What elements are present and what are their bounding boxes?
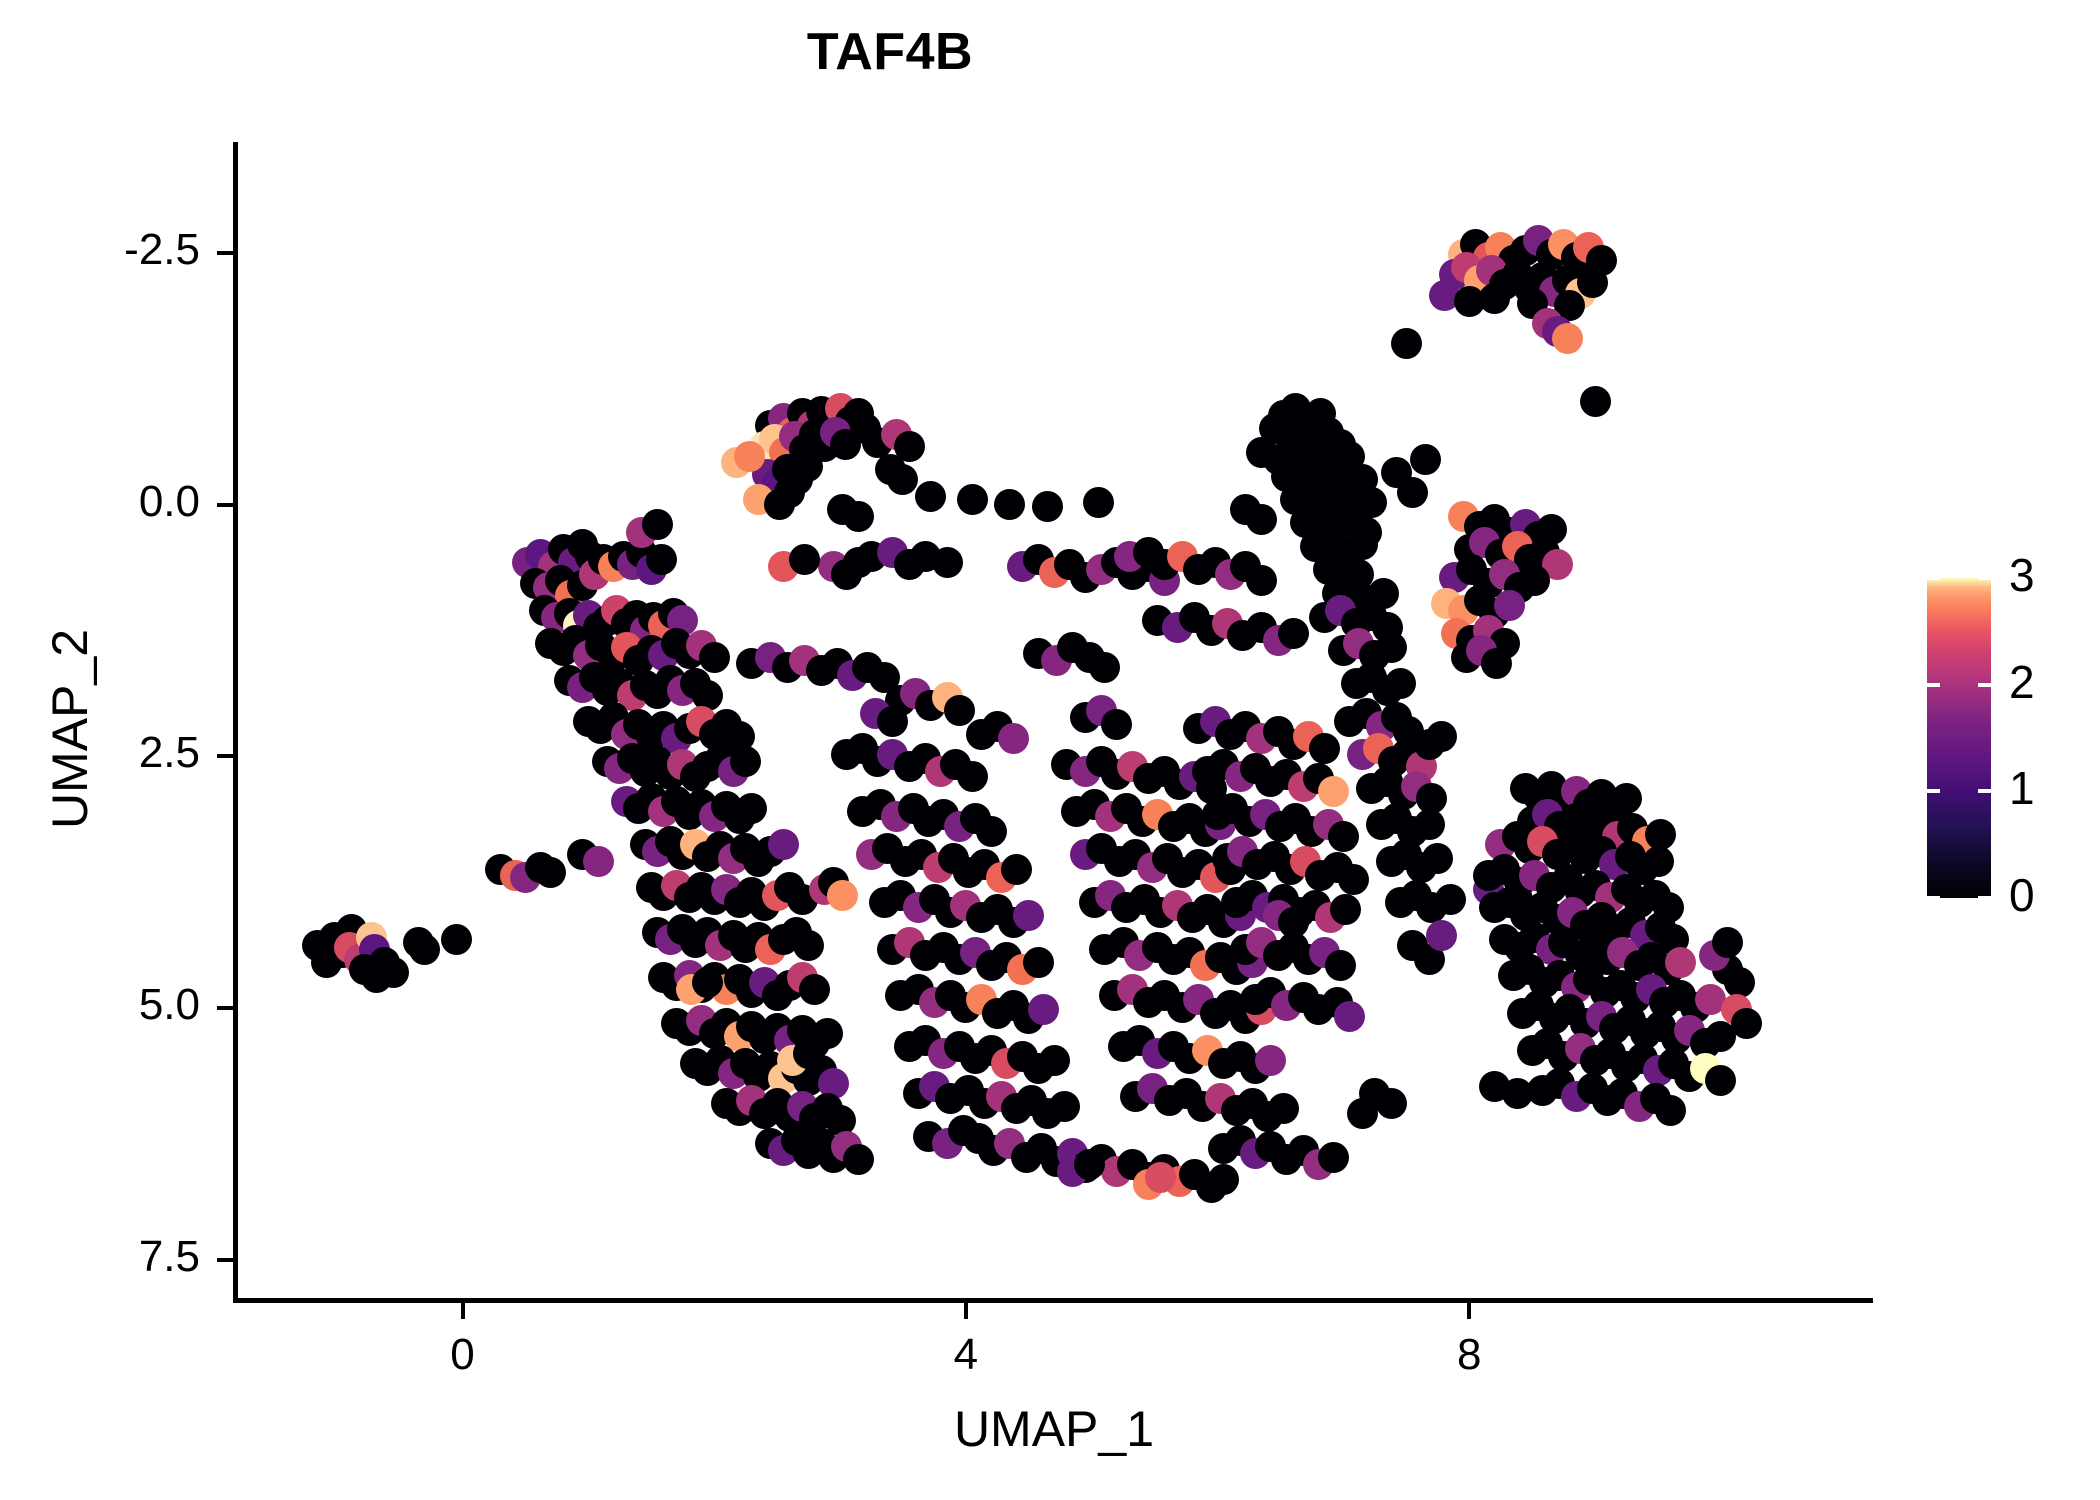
scatter-point [1255, 1045, 1286, 1076]
scatter-point [915, 481, 946, 512]
chart-title: TAF4B [0, 22, 1780, 82]
scatter-point [1397, 477, 1428, 508]
scatter-point [1089, 652, 1120, 683]
scatter-point [1328, 821, 1359, 852]
colorbar-tick-mark [1927, 683, 1940, 687]
scatter-point [843, 501, 874, 532]
scatter-point [1325, 950, 1356, 981]
scatter-point [1426, 721, 1457, 752]
colorbar-tick-mark [1927, 789, 1940, 793]
plot-area [236, 142, 1872, 1300]
scatter-point [1083, 487, 1114, 518]
x-tick-mark [964, 1303, 968, 1319]
scatter-point [1385, 668, 1416, 699]
scatter-point [1643, 846, 1674, 877]
scatter-point [774, 477, 805, 508]
scatter-point [793, 1038, 824, 1069]
scatter-point [1435, 884, 1466, 915]
scatter-point [1376, 1088, 1407, 1119]
scatter-point [1494, 590, 1525, 621]
scatter-point [1309, 733, 1340, 764]
scatter-point [1145, 1162, 1176, 1193]
scatter-point [1208, 1164, 1239, 1195]
scatter-point [1318, 1142, 1349, 1173]
scatter-point [932, 547, 963, 578]
scatter-point [793, 930, 824, 961]
scatter-point [1519, 565, 1550, 596]
scatter-point [792, 451, 823, 482]
scatter-point [1611, 783, 1642, 814]
scatter-point [1001, 854, 1032, 885]
scatter-point [1580, 386, 1611, 417]
colorbar-tick-label: 0 [2009, 868, 2079, 922]
scatter-point [699, 642, 730, 673]
scatter-point [1410, 444, 1441, 475]
scatter-point [1577, 267, 1608, 298]
scatter-point [1023, 947, 1054, 978]
scatter-point [1013, 900, 1044, 931]
scatter-point [1334, 1001, 1365, 1032]
scatter-point [535, 857, 566, 888]
scatter-point [1028, 994, 1059, 1025]
x-tick-mark [1467, 1303, 1471, 1319]
scatter-point [789, 544, 820, 575]
x-tick-label: 0 [383, 1330, 543, 1380]
scatter-point [730, 746, 761, 777]
y-tick-mark [217, 1006, 233, 1010]
colorbar-tick-mark [1927, 896, 1940, 900]
colorbar-tick-label: 2 [2009, 655, 2079, 709]
scatter-point [1705, 1065, 1736, 1096]
scatter-point [957, 761, 988, 792]
scatter-point [583, 846, 614, 877]
y-axis-title: UMAP_2 [41, 149, 99, 1309]
scatter-point [1502, 1078, 1533, 1109]
y-axis-line [233, 142, 238, 1302]
colorbar-tick-mark [1978, 789, 1991, 793]
scatter-point [1426, 920, 1457, 951]
scatter-point [1278, 618, 1309, 649]
scatter-point [1318, 776, 1349, 807]
x-tick-mark [461, 1303, 465, 1319]
y-tick-mark [217, 503, 233, 507]
chart-root: TAF4B 7.55.02.50.0-2.5 048 UMAP_1 UMAP_2… [0, 0, 2100, 1500]
scatter-point [976, 816, 1007, 847]
scatter-point [734, 441, 765, 472]
colorbar-tick-label: 1 [2009, 761, 2079, 815]
scatter-point [957, 484, 988, 515]
x-axis-title: UMAP_1 [236, 1400, 1872, 1458]
scatter-point [1665, 947, 1696, 978]
scatter-point [646, 544, 677, 575]
colorbar-tick-mark [1978, 896, 1991, 900]
y-tick-mark [217, 754, 233, 758]
scatter-point [994, 489, 1025, 520]
colorbar-tick-mark [1927, 576, 1940, 580]
scatter-point [1376, 632, 1407, 663]
scatter-point [768, 829, 799, 860]
scatter-point [1278, 907, 1309, 938]
scatter-point [1074, 1149, 1105, 1180]
x-axis-line [233, 1298, 1873, 1303]
scatter-point [1655, 1095, 1686, 1126]
scatter-point [1338, 864, 1369, 895]
colorbar-tick-mark [1978, 683, 1991, 687]
y-tick-mark [217, 1258, 233, 1262]
scatter-point [1246, 504, 1277, 535]
scatter-point [1268, 1093, 1299, 1124]
scatter-point [1039, 1045, 1070, 1076]
y-tick-mark [217, 251, 233, 255]
scatter-point [843, 1144, 874, 1175]
scatter-point [642, 509, 673, 540]
scatter-point [877, 706, 908, 737]
scatter-point [843, 547, 874, 578]
colorbar-legend [1927, 578, 1991, 898]
scatter-point [1422, 843, 1453, 874]
scatter-point [1414, 809, 1445, 840]
scatter-point [736, 793, 767, 824]
scatter-point [1049, 1091, 1080, 1122]
scatter-point [1712, 927, 1743, 958]
scatter-point [1330, 894, 1361, 925]
scatter-point [441, 924, 472, 955]
scatter-point [998, 723, 1029, 754]
scatter-point [378, 957, 409, 988]
colorbar-tick-mark [1978, 576, 1991, 580]
scatter-point [1552, 323, 1583, 354]
scatter-point [1246, 565, 1277, 596]
scatter-point [1347, 1098, 1378, 1129]
scatter-point [1101, 709, 1132, 740]
scatter-point [1479, 283, 1510, 314]
scatter-point [887, 464, 918, 495]
scatter-point [1032, 491, 1063, 522]
scatter-point [799, 974, 830, 1005]
colorbar-gradient [1927, 578, 1991, 898]
x-tick-label: 4 [886, 1330, 1046, 1380]
colorbar-tick-label: 3 [2009, 548, 2079, 602]
scatter-point [1731, 1008, 1762, 1039]
scatter-point [1391, 328, 1422, 359]
scatter-point [1481, 648, 1512, 679]
scatter-point [409, 934, 440, 965]
scatter-point [827, 880, 858, 911]
x-tick-label: 8 [1389, 1330, 1549, 1380]
